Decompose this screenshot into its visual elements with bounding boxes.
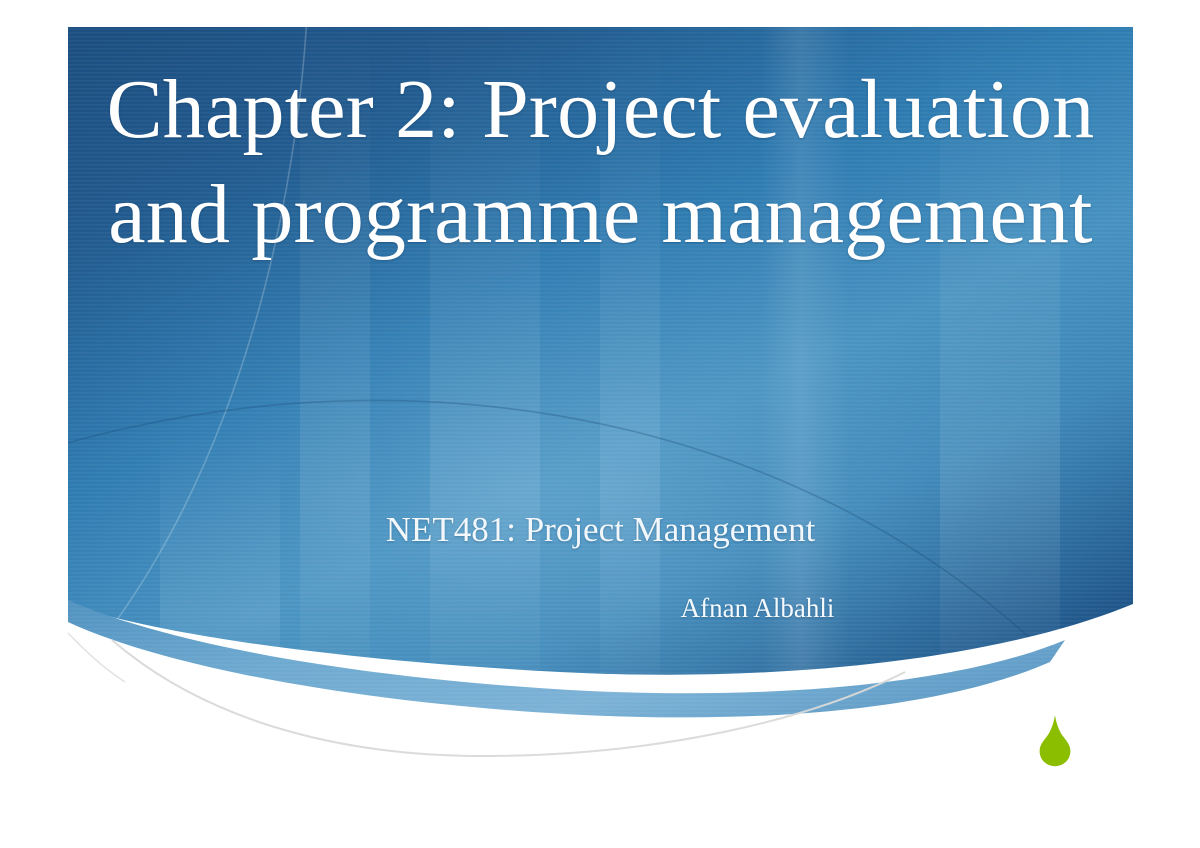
presentation-slide: Chapter 2: Project evaluation and progra… bbox=[0, 0, 1200, 848]
decorative-arc-line bbox=[112, 640, 905, 756]
slide-subtitle: NET481: Project Management bbox=[68, 509, 1133, 551]
slide-text-layer: Chapter 2: Project evaluation and progra… bbox=[68, 27, 1133, 647]
slide-title: Chapter 2: Project evaluation and progra… bbox=[68, 57, 1133, 267]
slide-title-text: Chapter 2: Project evaluation and progra… bbox=[107, 63, 1095, 261]
slide-author: Afnan Albahli bbox=[68, 592, 1133, 625]
water-droplet-icon bbox=[1032, 714, 1078, 770]
